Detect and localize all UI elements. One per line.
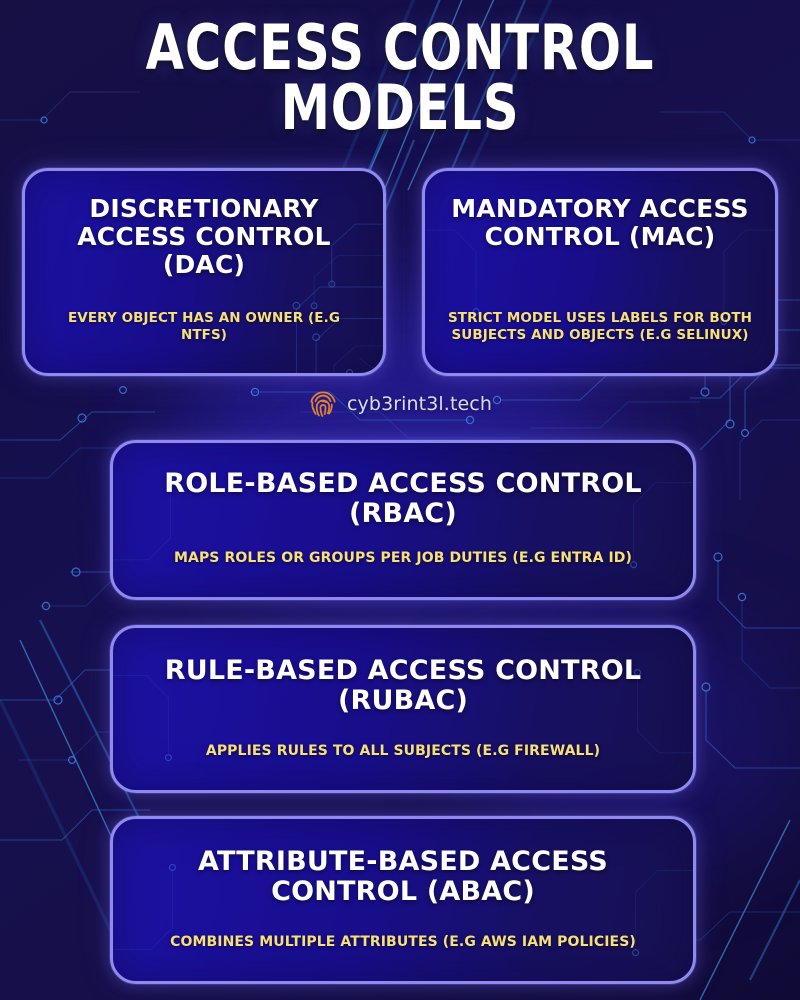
card-rbac[interactable]: ROLE-BASED ACCESS CONTROL (RBAC) MAPS RO… (110, 440, 696, 600)
card-abac[interactable]: ATTRIBUTE-BASED ACCESS CONTROL (ABAC) CO… (110, 816, 696, 984)
card-rbac-title: ROLE-BASED ACCESS CONTROL (RBAC) (139, 469, 667, 529)
card-abac-subtitle: COMBINES MULTIPLE ATTRIBUTES (E.G AWS IA… (170, 934, 636, 951)
card-rubac-subtitle: APPLIES RULES TO ALL SUBJECTS (E.G FIREW… (206, 743, 600, 760)
fingerprint-icon (308, 389, 338, 419)
card-mac[interactable]: MANDATORY ACCESS CONTROL (MAC) STRICT MO… (422, 168, 778, 376)
card-rubac-title: RULE-BASED ACCESS CONTROL (RUBAC) (139, 656, 667, 716)
card-abac-title: ATTRIBUTE-BASED ACCESS CONTROL (ABAC) (139, 847, 667, 907)
page-title: ACCESS CONTROL MODELS (0, 18, 800, 137)
card-dac-subtitle: EVERY OBJECT HAS AN OWNER (E.G NTFS) (43, 310, 365, 343)
page-title-line-2: MODELS (80, 78, 720, 138)
card-dac-title: DISCRETIONARY ACCESS CONTROL (DAC) (43, 195, 365, 279)
watermark-text: cyb3rint3l.tech (347, 393, 492, 415)
card-rbac-subtitle: MAPS ROLES OR GROUPS PER JOB DUTIES (E.G… (174, 550, 632, 567)
card-mac-subtitle: STRICT MODEL USES LABELS FOR BOTH SUBJEC… (443, 310, 757, 343)
watermark: cyb3rint3l.tech (0, 389, 800, 419)
card-dac[interactable]: DISCRETIONARY ACCESS CONTROL (DAC) EVERY… (22, 168, 386, 376)
infographic-poster: ACCESS CONTROL MODELS DISCRETIONARY ACCE… (0, 0, 800, 1000)
card-mac-title: MANDATORY ACCESS CONTROL (MAC) (443, 195, 757, 251)
card-rubac[interactable]: RULE-BASED ACCESS CONTROL (RUBAC) APPLIE… (110, 625, 696, 793)
page-title-line-1: ACCESS CONTROL (80, 18, 720, 78)
